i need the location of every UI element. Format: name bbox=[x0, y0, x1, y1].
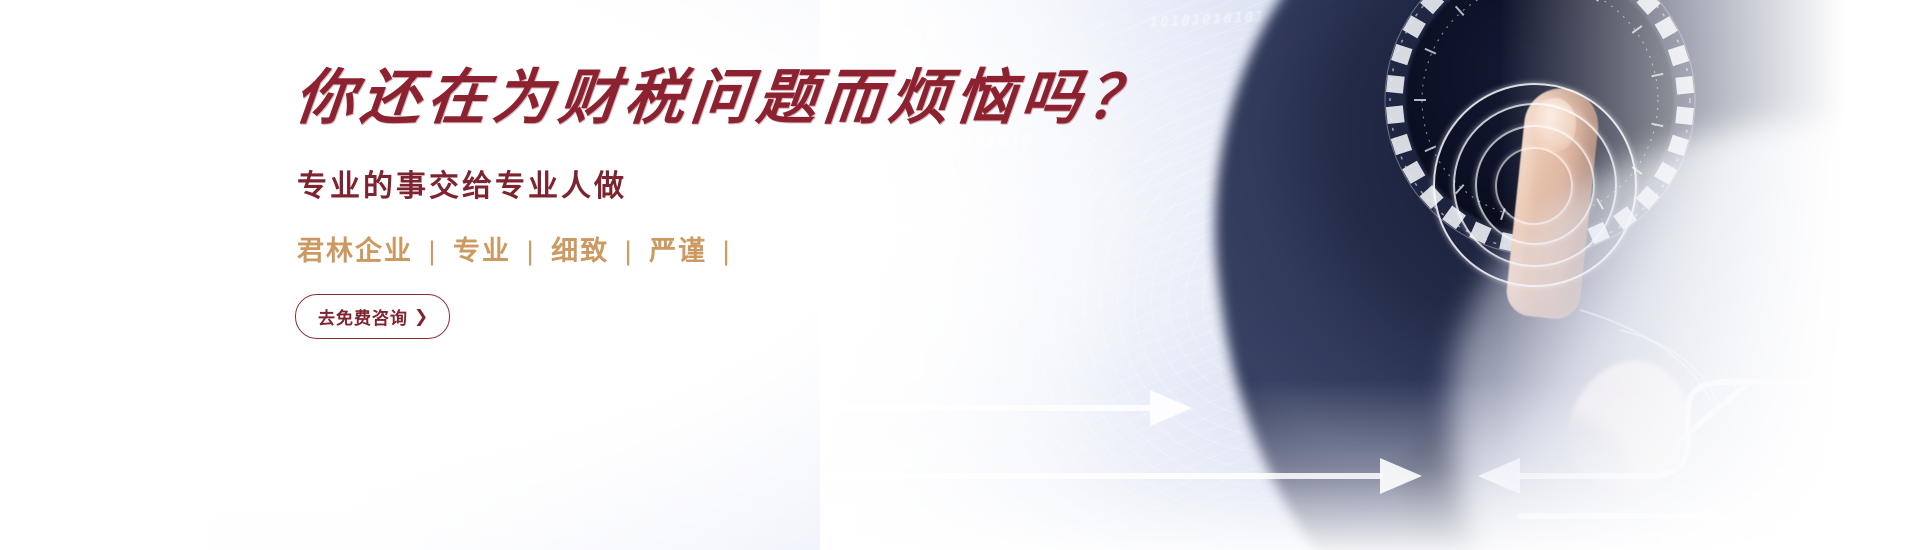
tagline-item-2: 细致 bbox=[551, 236, 609, 266]
banner-subhead: 专业的事交给专业人做 bbox=[297, 161, 1015, 205]
chevron-right-icon: ❯ bbox=[414, 308, 429, 325]
cta-label: 去免费咨询 bbox=[318, 304, 408, 329]
tagline-separator: | bbox=[619, 236, 640, 266]
tagline-separator: | bbox=[521, 236, 542, 266]
free-consultation-button[interactable]: 去免费咨询 ❯ bbox=[295, 294, 450, 339]
tagline-item-0: 君林企业 bbox=[297, 236, 413, 266]
tagline-separator-trailing: | bbox=[717, 236, 738, 266]
banner-content: 你还在为财税问题而烦恼吗？ 专业的事交给专业人做 君林企业 | 专业 | 细致 … bbox=[295, 66, 1015, 339]
right-fade-overlay bbox=[1500, 0, 1920, 550]
hero-banner: 1010101010 10101 101010101 10101010 1010… bbox=[0, 0, 1920, 550]
banner-tagline: 君林企业 | 专业 | 细致 | 严谨 | bbox=[297, 229, 1015, 268]
tagline-item-1: 专业 bbox=[453, 236, 511, 266]
banner-headline: 你还在为财税问题而烦恼吗？ bbox=[292, 66, 1019, 131]
tagline-separator: | bbox=[423, 236, 444, 266]
tagline-item-3: 严谨 bbox=[649, 236, 707, 266]
